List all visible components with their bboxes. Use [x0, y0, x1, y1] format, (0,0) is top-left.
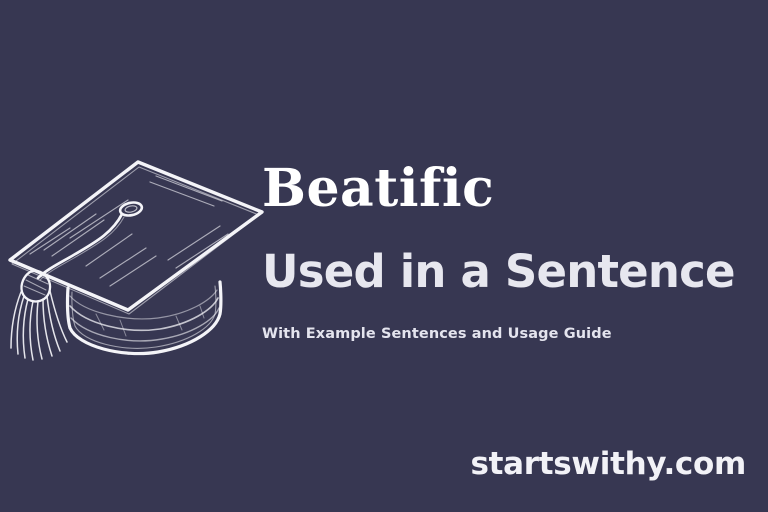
graduation-cap-illustration	[0, 138, 272, 370]
page-title: Beatific	[262, 160, 752, 218]
headline: Used in a Sentence	[262, 246, 752, 298]
brand-website: startswithy.com	[470, 446, 746, 482]
banner-text-block: Beatific Used in a Sentence With Example…	[262, 160, 752, 344]
mortarboard-plate-group	[10, 162, 262, 314]
tagline: With Example Sentences and Usage Guide	[262, 324, 752, 344]
plate-hatching	[30, 176, 228, 286]
tassel-head	[21, 271, 50, 302]
word-definition-banner: Beatific Used in a Sentence With Example…	[0, 0, 768, 512]
